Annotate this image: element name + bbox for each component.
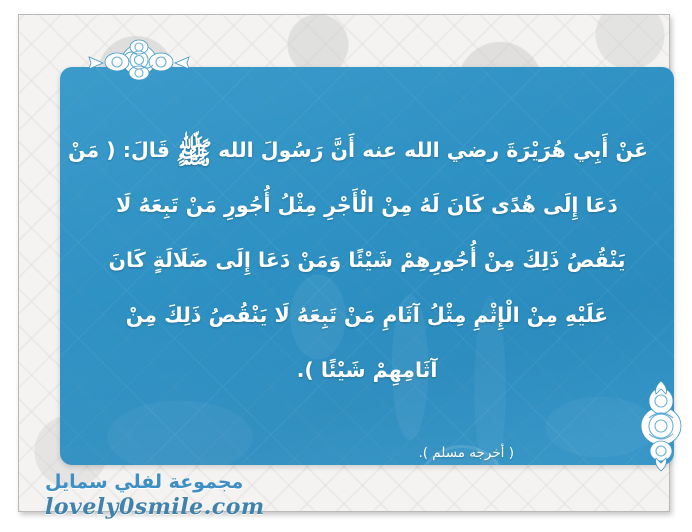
- pbuh-calligraphy-icon: ﷺ: [176, 139, 212, 169]
- hadith-source-attribution: ( أخرجه مسلم ).: [418, 445, 514, 461]
- card-frame: عَنْ أَبِي هُرَيْرَةَ رضي الله عنه أَنَّ…: [18, 14, 670, 512]
- brand-name-arabic: مجموعة لفلي سمايل: [45, 470, 375, 494]
- hadith-card: عَنْ أَبِي هُرَيْرَةَ رضي الله عنه أَنَّ…: [0, 0, 692, 532]
- hadith-line-4: عَلَيْهِ مِنْ الْإِثْمِ مِثْلُ آثَامِ مَ…: [86, 288, 648, 343]
- hadith-line-5: آثَامِهِمْ شَيْئًا ).: [86, 343, 648, 398]
- hadith-line-1: عَنْ أَبِي هُرَيْرَةَ رضي الله عنه أَنَّ…: [86, 123, 648, 178]
- brand-website-url: lovely0smile.com: [45, 494, 375, 520]
- hadith-line-2: دَعَا إِلَى هُدًى كَانَ لَهُ مِنْ الْأَج…: [86, 178, 648, 233]
- hadith-line-1-part-a: عَنْ أَبِي هُرَيْرَةَ رضي الله عنه أَنَّ…: [218, 138, 648, 162]
- footer-branding: مجموعة لفلي سمايل lovely0smile.com: [45, 470, 375, 520]
- hadith-text-block: عَنْ أَبِي هُرَيْرَةَ رضي الله عنه أَنَّ…: [60, 123, 674, 398]
- hadith-panel: عَنْ أَبِي هُرَيْرَةَ رضي الله عنه أَنَّ…: [60, 67, 674, 465]
- hadith-line-3: يَنْقُصُ ذَلِكَ مِنْ أُجُورِهِمْ شَيْئًا…: [86, 233, 648, 288]
- hadith-line-1-part-b: قَالَ: ( مَنْ: [68, 138, 170, 162]
